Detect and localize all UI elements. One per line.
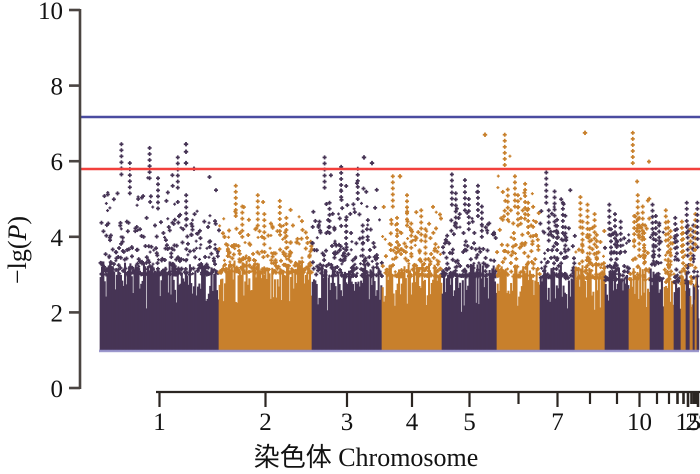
- manhattan-plot-figure: 0246810 123457101528 −lg(P) 染色体 Chromoso…: [0, 0, 700, 474]
- y-axis-tick-label: 6: [51, 149, 64, 176]
- y-axis-title-text: −lg(P): [3, 216, 32, 284]
- y-axis-title-p: P: [3, 225, 32, 242]
- x-axis-title: 染色体 Chromosome: [254, 443, 479, 472]
- x-axis-title-cn: 染色体: [254, 443, 332, 472]
- plot-canvas: 0246810 123457101528 −lg(P) 染色体 Chromoso…: [0, 0, 700, 474]
- x-axis-tick-label-chr-28: 28: [686, 409, 700, 436]
- y-axis-tick-label: 4: [51, 225, 64, 252]
- x-axis-title-text: 染色体 Chromosome: [254, 443, 479, 472]
- y-axis-title: −lg(P): [3, 216, 32, 284]
- y-axis-tick-label: 8: [51, 74, 64, 101]
- x-axis-tick-label-chr-3: 3: [341, 409, 354, 436]
- x-axis-title-en: Chromosome: [338, 443, 478, 472]
- y-axis-title-lg: lg(: [3, 241, 32, 270]
- point-cloud-baseline: [99, 350, 699, 353]
- y-axis-tick-label: 10: [38, 0, 63, 25]
- x-axis-tick-label-chr-5: 5: [463, 409, 476, 436]
- y-axis-title-close: ): [3, 216, 32, 225]
- chromosome-density-column: [698, 318, 699, 350]
- x-axis-tick-label-chr-2: 2: [259, 409, 272, 436]
- x-axis-tick-label-chr-7: 7: [551, 409, 564, 436]
- x-axis-tick-label-chr-10: 10: [627, 409, 652, 436]
- x-axis-tick-label-chr-1: 1: [153, 409, 166, 436]
- y-axis-tick-label: 2: [51, 300, 64, 327]
- x-axis-tick-label-chr-4: 4: [406, 409, 419, 436]
- y-axis-tick-label: 0: [51, 376, 64, 403]
- y-axis-title-minus: −: [3, 269, 32, 284]
